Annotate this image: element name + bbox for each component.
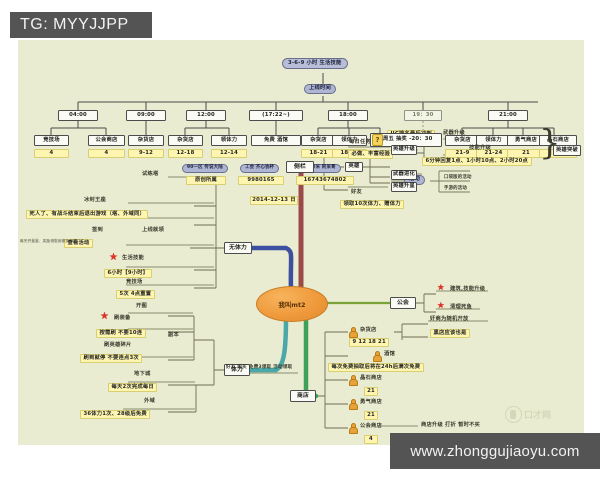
sidebar-item-friends: 好友: [351, 190, 362, 196]
site-url-watermark: www.zhonggujiaoyu.com: [390, 433, 600, 469]
guild-item-clear-dead-fish: 清理死鱼: [450, 305, 472, 311]
stamina-note-outland-cost: 36体力1次、28级后免费: [80, 410, 150, 419]
stamina-item-dungeon-stage: 副本: [168, 333, 179, 339]
shop-item-guild-shop: 公会商店: [360, 424, 382, 430]
branch-node-shop[interactable]: 商店: [290, 390, 316, 402]
schedule-item-stamina-1200[interactable]: 领体力: [211, 135, 247, 146]
schedule-time-1722[interactable]: (17:22~): [249, 110, 303, 121]
schedule-time-0900[interactable]: 09:00: [126, 110, 166, 121]
shop-note-free-draw: 每次免费抽取后将在24h后满次免费: [328, 363, 424, 372]
schedule-hours-arena: 4: [34, 149, 69, 158]
sidebar-item-weapon-evolve[interactable]: 武器进化: [391, 170, 417, 180]
credit-value-date: 2014-12-13 日: [250, 196, 298, 205]
schedule-hours-guild-shop: 4: [88, 149, 125, 158]
sidebar-item-weapon-upgrade: 武器升级: [443, 131, 465, 137]
sidebar-item-hero-star[interactable]: 英雄升星: [391, 182, 417, 192]
activity-item-pocket: 口袋版的活动: [444, 176, 472, 181]
schedule-hours-stamina-1200: 12-14: [211, 149, 247, 158]
shop-icon: [373, 351, 380, 360]
mindmap-center-node[interactable]: 我叫mt2: [256, 286, 328, 322]
star-icon: ★: [109, 253, 118, 263]
sidebar-item-hero-levelup[interactable]: 英雄升级: [391, 145, 417, 155]
shop-hours-courage: 21: [364, 411, 378, 420]
mindmap-top-title: 3-6-9 小时 生活技能: [282, 58, 348, 69]
star-icon: ★: [437, 284, 445, 293]
schedule-time-1930[interactable]: 19：30: [404, 110, 442, 121]
schedule-item-arena[interactable]: 竞技场: [34, 135, 69, 146]
stamina-item-underground: 地下城: [134, 372, 151, 378]
credit-tag-guild: 工会 齐心协杯: [240, 164, 279, 173]
site-url-text: www.zhonggujiaoyu.com: [410, 443, 579, 460]
stamina-note-stop-when-drop: 刷到就停 不要连点3次: [80, 354, 142, 363]
logo-mark-icon: [505, 406, 522, 423]
no-stamina-item-signin: 签到: [92, 228, 103, 234]
schedule-hours-grocery-1800: 18-21: [301, 149, 336, 158]
schedule-item-grocery-1200[interactable]: 杂货店: [168, 135, 203, 146]
shop-hours-crystal: 21: [364, 387, 378, 396]
schedule-item-guild-shop[interactable]: 公会商店: [88, 135, 125, 146]
question-icon: ?: [372, 134, 383, 146]
shop-item-courage: 勇气商店: [360, 400, 382, 406]
no-stamina-item-login-claim: 上线就领: [142, 228, 164, 234]
shop-icon: [349, 327, 356, 336]
shop-hours-guild-shop: 4: [364, 435, 378, 444]
sidebar-note-friend-stamina: 领取10次体力、赠体力: [340, 200, 404, 209]
sidebar-item-hero[interactable]: 英雄: [345, 162, 363, 172]
stamina-item-outland: 外域: [144, 399, 155, 405]
schedule-time-1200[interactable]: 12:00: [186, 110, 226, 121]
branch-node-guild[interactable]: 公会: [390, 297, 416, 309]
sidebar-item-skill-upgrade: 技能升级: [469, 146, 491, 152]
no-stamina-note-life-skill-hours: 6小时【9小时】: [104, 269, 152, 278]
credit-value-author-phone: 16743674802: [296, 176, 354, 185]
telegram-tag-text: TG: MYYJJPP: [20, 16, 129, 34]
schedule-time-2100[interactable]: 21:00: [488, 110, 528, 121]
credit-tag-server: 90一区 传说大陆: [182, 164, 228, 173]
stamina-note-twice-daily: 每天2次完成每日: [108, 383, 157, 392]
no-stamina-item-trial-tower: 试练塔: [142, 172, 159, 178]
no-stamina-note-death-exit: 死人了、有战斗结束后退出游戏（塔、外域同）: [26, 210, 148, 219]
schedule-hours-grocery-1200: 12-18: [168, 149, 203, 158]
sidebar-note-energy-recovery: 6分钟回复1点、1小时10点、2小时20点: [422, 157, 532, 166]
schedule-hours-grocery-0900: 9-12: [128, 149, 164, 158]
shop-note-random-merchant: 奸商为随机开放: [430, 317, 468, 323]
mindmap-canvas: 3-6-9 小时 生活技能 上线时间 04:00 09:00 12:00 (17…: [18, 40, 584, 445]
stamina-item-open-map: 开图: [136, 304, 147, 310]
no-stamina-note-arena-reset: 5次 4点重置: [116, 290, 155, 299]
branch-node-no-stamina[interactable]: 无体力: [224, 242, 252, 254]
shop-icon: [349, 375, 356, 384]
sidebar-item-hero-breakthrough[interactable]: 英雄突破: [553, 145, 581, 156]
no-stamina-item-frozen-throne: 冰封王座: [84, 198, 106, 204]
shop-note-black-shop: 黑店应该也是: [430, 329, 470, 338]
shop-icon: [349, 399, 356, 408]
no-stamina-item-arena: 竞技场: [126, 280, 143, 286]
schedule-item-grocery-1800[interactable]: 杂货店: [301, 135, 336, 146]
sidebar-item-daily-quest: 每日任务: [349, 140, 371, 146]
telegram-tag-watermark: TG: MYYJJPP: [10, 12, 152, 38]
shop-item-crystal: 晶石商店: [360, 376, 382, 382]
credit-value-guild-qq: 9980165: [238, 176, 284, 185]
shop-note-upgrade-discount: 商店升级 打折 暂时不买: [421, 423, 480, 429]
credit-value-origin: 原创所属: [186, 176, 226, 185]
logo-text: 口才网: [524, 408, 551, 421]
schedule-time-0400[interactable]: 04:00: [58, 110, 98, 121]
online-time-node: 上线时间: [304, 84, 336, 94]
shop-icon: [349, 423, 356, 432]
schedule-time-1800[interactable]: 18:00: [328, 110, 368, 121]
star-icon: ★: [437, 302, 445, 311]
stamina-item-farm-gear: 刷装备: [114, 316, 131, 322]
no-stamina-side-note: 每天开星星、奖励领取到家后用的: [20, 240, 77, 244]
branch-node-sidebar[interactable]: 侧栏: [286, 161, 314, 173]
connector-lines: [18, 40, 584, 445]
sidebar-note-daily-quest: 必做、丰富经验: [348, 150, 393, 159]
shop-item-tavern: 酒馆: [384, 352, 395, 358]
schedule-item-free-tavern[interactable]: 免费 酒馆: [251, 135, 301, 146]
guild-item-building-skill: 建筑,技能升级: [450, 287, 485, 293]
screenshot-root: TG: MYYJJPP: [0, 0, 600, 480]
site-logo-watermark: 口才网: [505, 403, 579, 425]
stamina-note-no-ten-pull: 按需刷 不要10连: [96, 329, 146, 338]
activity-item-mobile: 手游的活动: [444, 187, 467, 192]
star-icon: ★: [100, 312, 109, 322]
no-stamina-item-life-skill: 生活技能: [122, 256, 144, 262]
shop-item-grocery: 杂货店: [360, 328, 377, 334]
stamina-item-farm-hero-shard: 刷英雄碎片: [104, 343, 132, 349]
shop-hours-grocery: 9 12 18 21: [349, 338, 389, 347]
schedule-item-grocery-0900[interactable]: 杂货店: [128, 135, 164, 146]
